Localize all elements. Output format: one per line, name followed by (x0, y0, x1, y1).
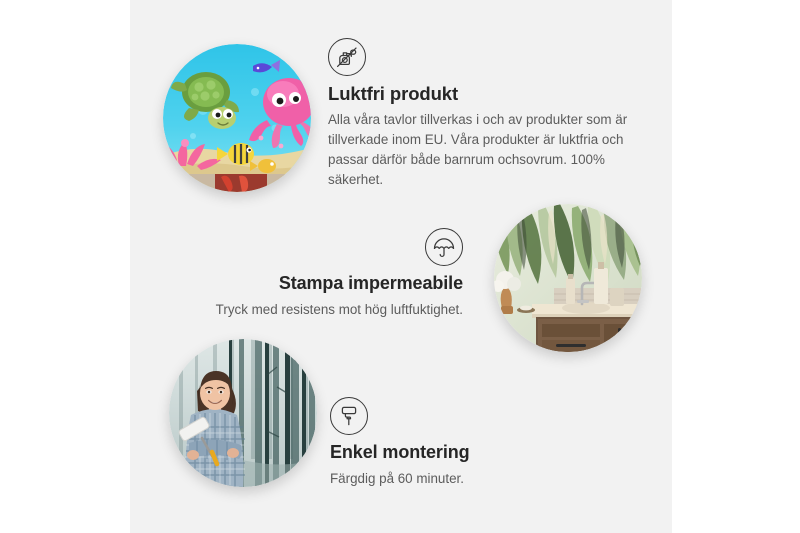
feature-odourless: Luktfri produkt Alla våra tavlor tillver… (328, 38, 628, 190)
feature-text: Alla våra tavlor tillverkas i och av pro… (328, 110, 628, 189)
feature-title: Stampa impermeabile (205, 273, 463, 295)
page-root: Luktfri produkt Alla våra tavlor tillver… (0, 0, 800, 533)
feature-title: Luktfri produkt (328, 83, 628, 105)
umbrella-icon (425, 228, 463, 266)
feature-text: Tryck med resistens mot hög luftfuktighe… (205, 300, 463, 320)
feature-waterproof: Stampa impermeabile Tryck med resistens … (205, 228, 463, 319)
photo-forest (169, 339, 317, 487)
feature-text: Färgdig på 60 minuter. (330, 469, 600, 489)
feature-title: Enkel montering (330, 442, 600, 464)
paint-roller-icon (330, 397, 368, 435)
photo-bathroom (494, 204, 642, 352)
no-fragrance-icon (328, 38, 366, 76)
feature-easy-mounting: Enkel montering Färgdig på 60 minuter. (330, 397, 600, 488)
photo-underwater (163, 44, 311, 192)
